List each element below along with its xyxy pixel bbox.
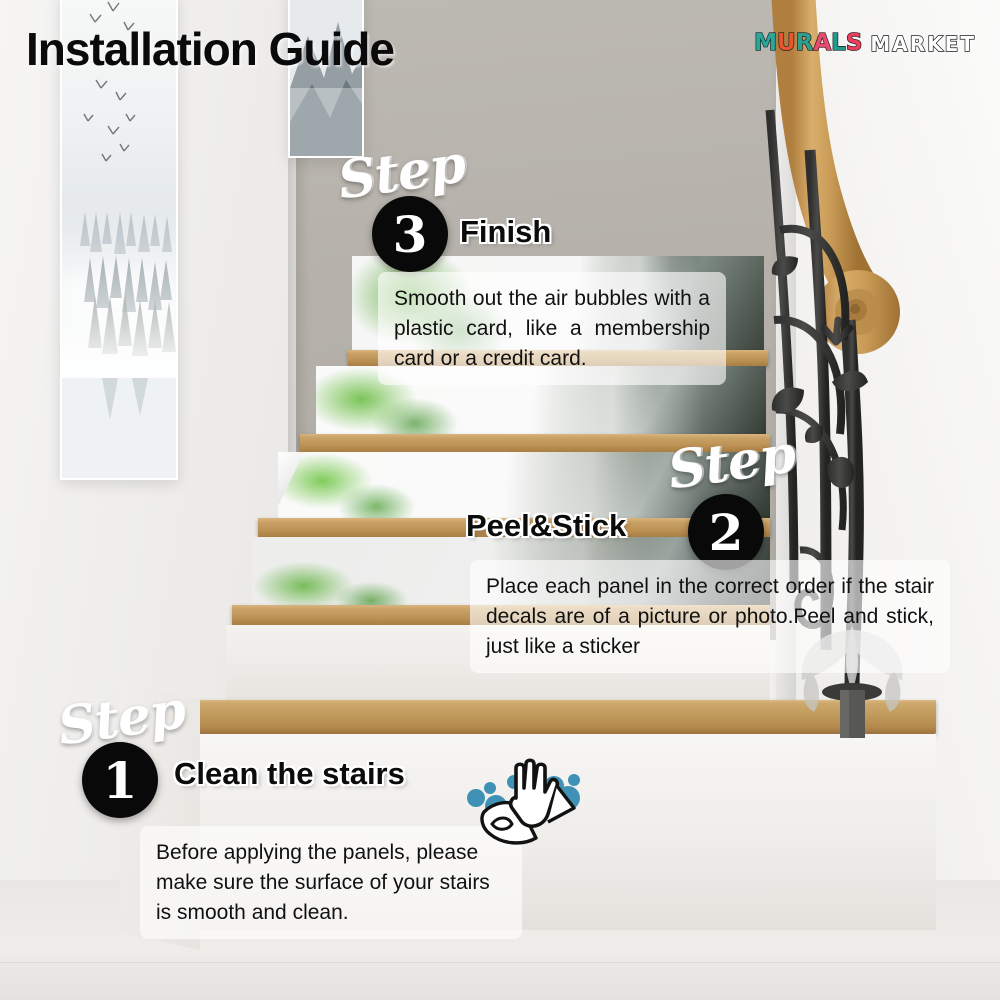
step-1-heading: Clean the stairs	[174, 756, 405, 792]
brand-murals-wordmark: M U R A L S	[754, 32, 862, 55]
brand-logo[interactable]: M U R A L S MARKET	[754, 32, 976, 55]
brand-letter-m: M	[754, 32, 777, 55]
step-2-body: Place each panel in the correct order if…	[470, 560, 950, 673]
step-1-badge: 1	[82, 742, 158, 818]
brand-letter-u: U	[777, 32, 796, 55]
clean-icon-svg	[462, 752, 590, 850]
brand-letter-l: L	[831, 32, 846, 55]
cloth-fold	[492, 818, 512, 829]
step-3-badge: 3	[372, 196, 448, 272]
bud-ornament	[827, 457, 854, 488]
step-2-heading: Peel&Stick	[466, 508, 626, 544]
brand-market-wordmark: MARKET	[870, 34, 976, 54]
brand-letter-a: A	[813, 32, 831, 55]
page-title: Installation Guide	[26, 22, 394, 76]
baluster-2	[770, 110, 794, 590]
step-3-body: Smooth out the air bubbles with a plasti…	[378, 272, 726, 385]
installation-guide-image: Installation Guide M U R A L S MARKET St…	[0, 0, 1000, 1000]
hand-wiping-cloth-icon	[462, 752, 590, 850]
step-3-heading: Finish	[460, 214, 551, 250]
brand-letter-r: R	[796, 32, 814, 55]
brand-letter-s: S	[846, 32, 863, 55]
step-2-badge: 2	[688, 494, 764, 570]
